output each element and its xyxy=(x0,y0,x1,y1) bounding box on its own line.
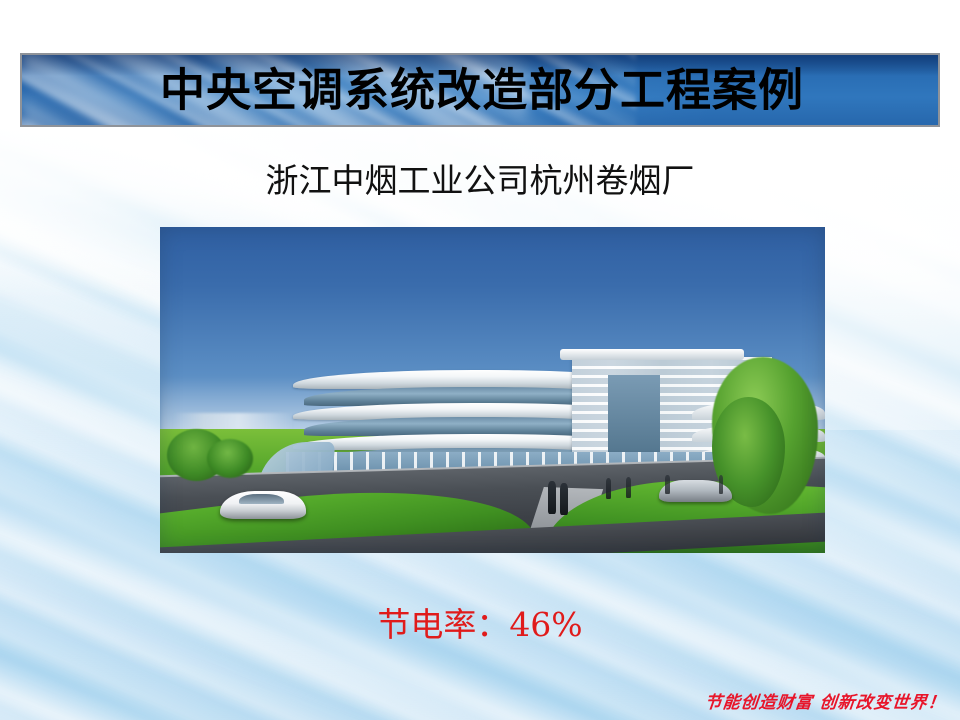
tree-left-small xyxy=(207,439,254,478)
pedestrian-figure xyxy=(626,477,631,498)
project-photo xyxy=(160,227,825,553)
pedestrian-figure xyxy=(719,475,724,495)
white-car-window xyxy=(239,494,284,504)
footer-slogan: 节能创造财富 创新改变世界！ xyxy=(704,688,948,713)
power-saving-rate: 节电率：46% xyxy=(0,607,960,643)
tower-roof-slab xyxy=(560,349,744,360)
page-title: 中央空调系统改造部分工程案例 xyxy=(22,68,938,113)
subtitle-company-name: 浙江中烟工业公司杭州卷烟厂 xyxy=(0,163,960,199)
white-car xyxy=(220,491,306,519)
pedestrian-figure xyxy=(606,478,611,499)
pedestrian-figure xyxy=(548,481,555,514)
presentation-slide: 中央空调系统改造部分工程案例 浙江中烟工业公司杭州卷烟厂 xyxy=(0,0,960,720)
pedestrian-figure xyxy=(560,483,567,516)
title-banner: 中央空调系统改造部分工程案例 xyxy=(20,53,940,127)
pedestrian-figure xyxy=(665,475,670,495)
